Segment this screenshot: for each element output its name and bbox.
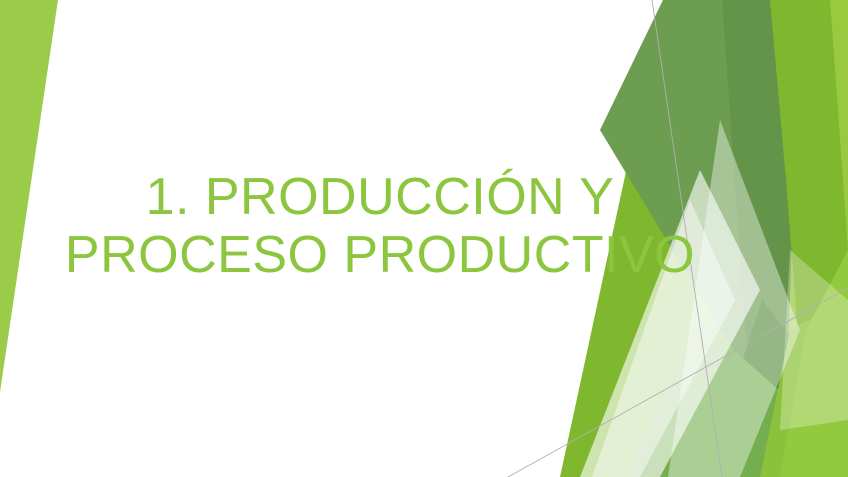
slide-canvas: 1. PRODUCCIÓN Y PROCESO PRODUCTIVO (0, 0, 848, 477)
bright-green-band (770, 0, 848, 360)
dark-green-inner-panel (722, 0, 800, 368)
light-green-edge (700, 0, 848, 477)
title-line-2: PROCESO PRODUCTIVO (60, 226, 700, 284)
slide-title[interactable]: 1. PRODUCCIÓN Y PROCESO PRODUCTIVO (60, 168, 700, 284)
left-green-wedge (0, 0, 58, 392)
lower-bright-green-shape (760, 300, 848, 477)
title-line-1: 1. PRODUCCIÓN Y (60, 168, 700, 226)
hairline-shallow-diagonal (508, 288, 848, 477)
lower-right-green-shape (780, 250, 848, 477)
pale-overlay-three (780, 250, 848, 430)
deep-green-accent (742, 300, 800, 400)
lower-mid-green-shape (625, 320, 790, 477)
